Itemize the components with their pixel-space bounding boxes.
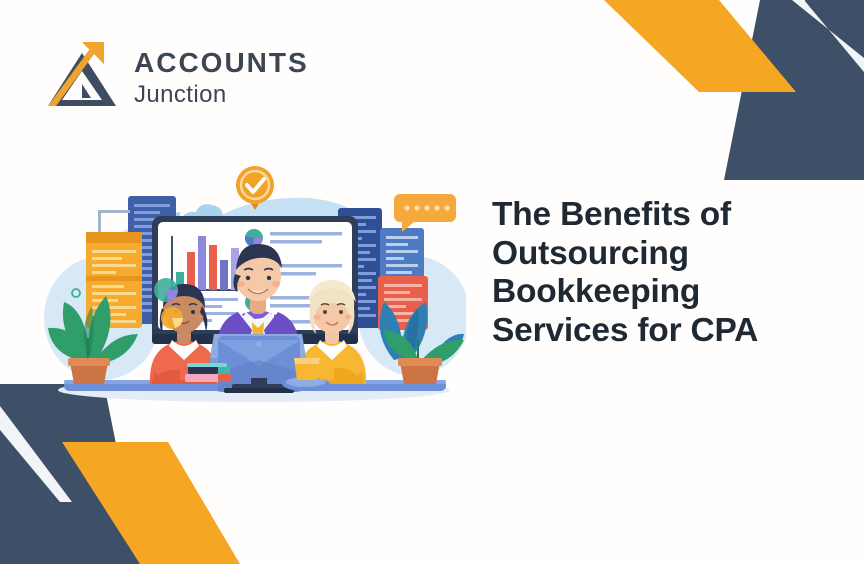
- logo-wordmark: ACCOUNTS Junction: [134, 45, 309, 107]
- page-title: The Benefits of Outsourcing Bookkeeping …: [492, 196, 842, 350]
- banner-canvas: ACCOUNTS Junction The Benefits of Outsou…: [0, 0, 864, 564]
- diagonal-stripe-ribbon-top-right: [564, 0, 864, 180]
- logo-secondary-text: Junction: [134, 83, 309, 107]
- logo[interactable]: ACCOUNTS Junction: [42, 40, 309, 112]
- headline-line-1: The Benefits of: [492, 196, 731, 233]
- accounts-junction-triangle-arrow-logo-icon: [42, 40, 122, 112]
- diagonal-stripe-ribbon-bottom-left: [0, 384, 300, 564]
- book-stack: [185, 363, 231, 382]
- bookkeeping-team-office-illustration: [42, 158, 466, 406]
- five-star-review-bubble: [394, 194, 456, 232]
- headline-line-4: Services for CPA: [492, 312, 758, 349]
- headline-line-3: Bookkeeping: [492, 273, 700, 310]
- logo-primary-text: ACCOUNTS: [134, 49, 309, 77]
- headline-line-2: Outsourcing: [492, 235, 689, 272]
- document-stack-orange: [86, 232, 142, 328]
- illustration-svg: [42, 158, 466, 406]
